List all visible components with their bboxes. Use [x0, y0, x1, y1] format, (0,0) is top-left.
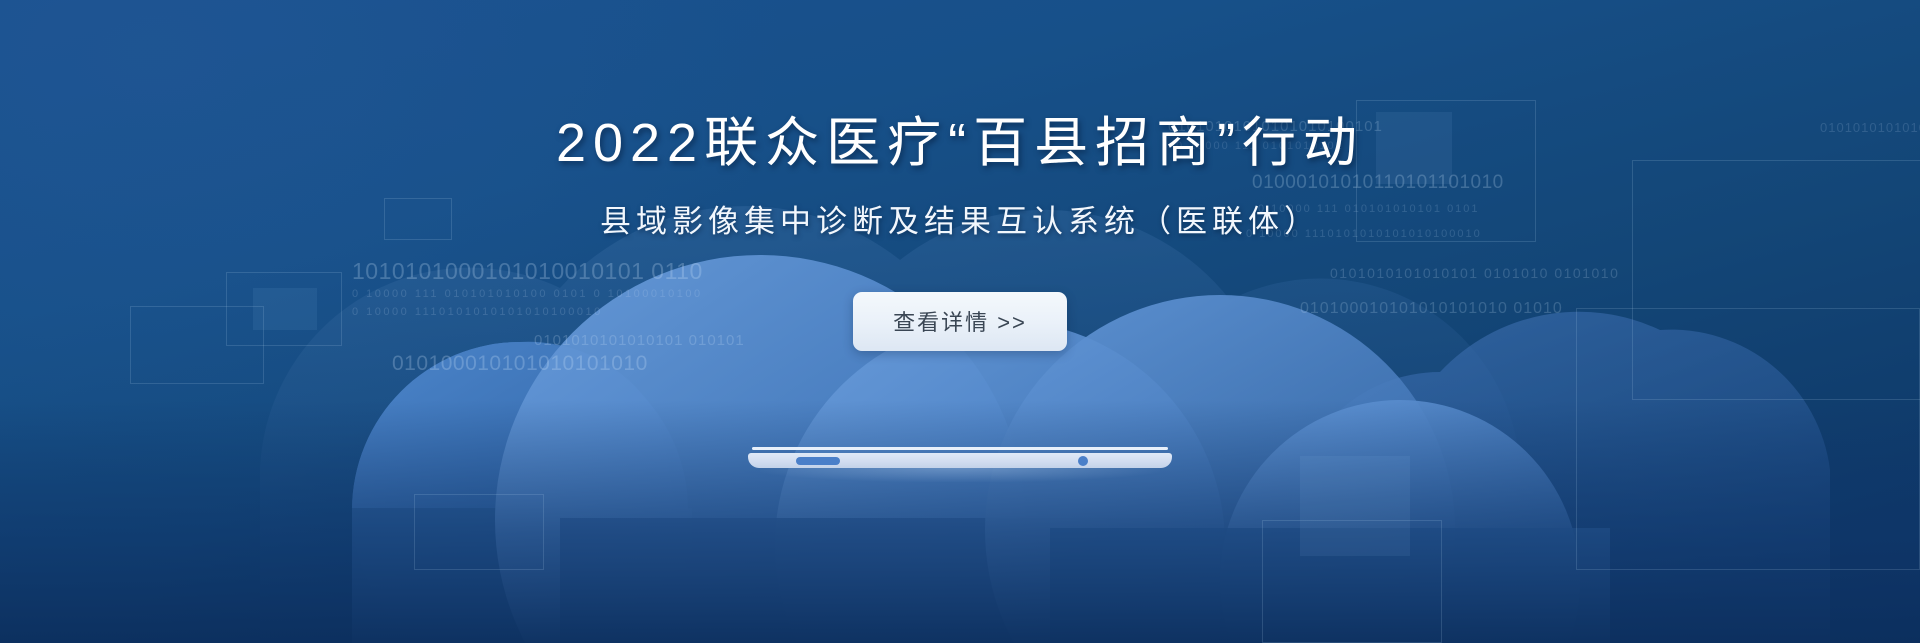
rect-outline-bottom-left	[414, 494, 544, 570]
laptop-base	[748, 447, 1172, 471]
power-indicator	[796, 457, 840, 465]
binary-text: 0 10000 1110101010101010100010	[352, 306, 603, 318]
cta-container: 查看详情 >>	[853, 292, 1067, 351]
binary-text: 0 10000 1110101010101010100010	[1246, 228, 1482, 240]
binary-text: 01000101010110101101010	[1252, 172, 1504, 194]
laptop-reflection	[760, 468, 1160, 482]
rect-outline-center-top	[384, 198, 452, 240]
binary-text: 01010101010101010100101	[1168, 118, 1383, 135]
binary-text: 010100010101010101010 01010	[1300, 300, 1563, 318]
promo-banner: 1010101000101010010101 0110 0 10000 111 …	[0, 0, 1920, 643]
binary-text: 0101010101010101 0101010 0101010	[1330, 265, 1619, 281]
banner-subtitle: 县域影像集中诊断及结果互认系统（医联体）	[600, 206, 1320, 237]
rect-outline-left-lower	[130, 306, 264, 384]
rect-outline-lower-mid	[1262, 520, 1442, 643]
binary-text: 0 10000 111 010101010101 0101	[1258, 203, 1480, 215]
view-details-button[interactable]: 查看详情 >>	[853, 292, 1067, 351]
binary-text: 0 10000 111 0101010101	[1176, 140, 1344, 152]
rect-outline-right-lower	[1576, 308, 1920, 570]
laptop-lid-edge	[752, 447, 1168, 450]
binary-text: 01010101010101 01010	[1820, 120, 1920, 135]
cloud-left-large	[352, 342, 700, 643]
binary-text: 0 10000 111 010101010100 0101 0 10100010…	[352, 288, 703, 300]
binary-text: 0101010101010101 010101	[534, 332, 745, 349]
camera-dot	[1078, 456, 1088, 466]
binary-text: 010100010101010101010	[392, 352, 648, 376]
binary-text: 1010101000101010010101 0110	[352, 258, 703, 285]
